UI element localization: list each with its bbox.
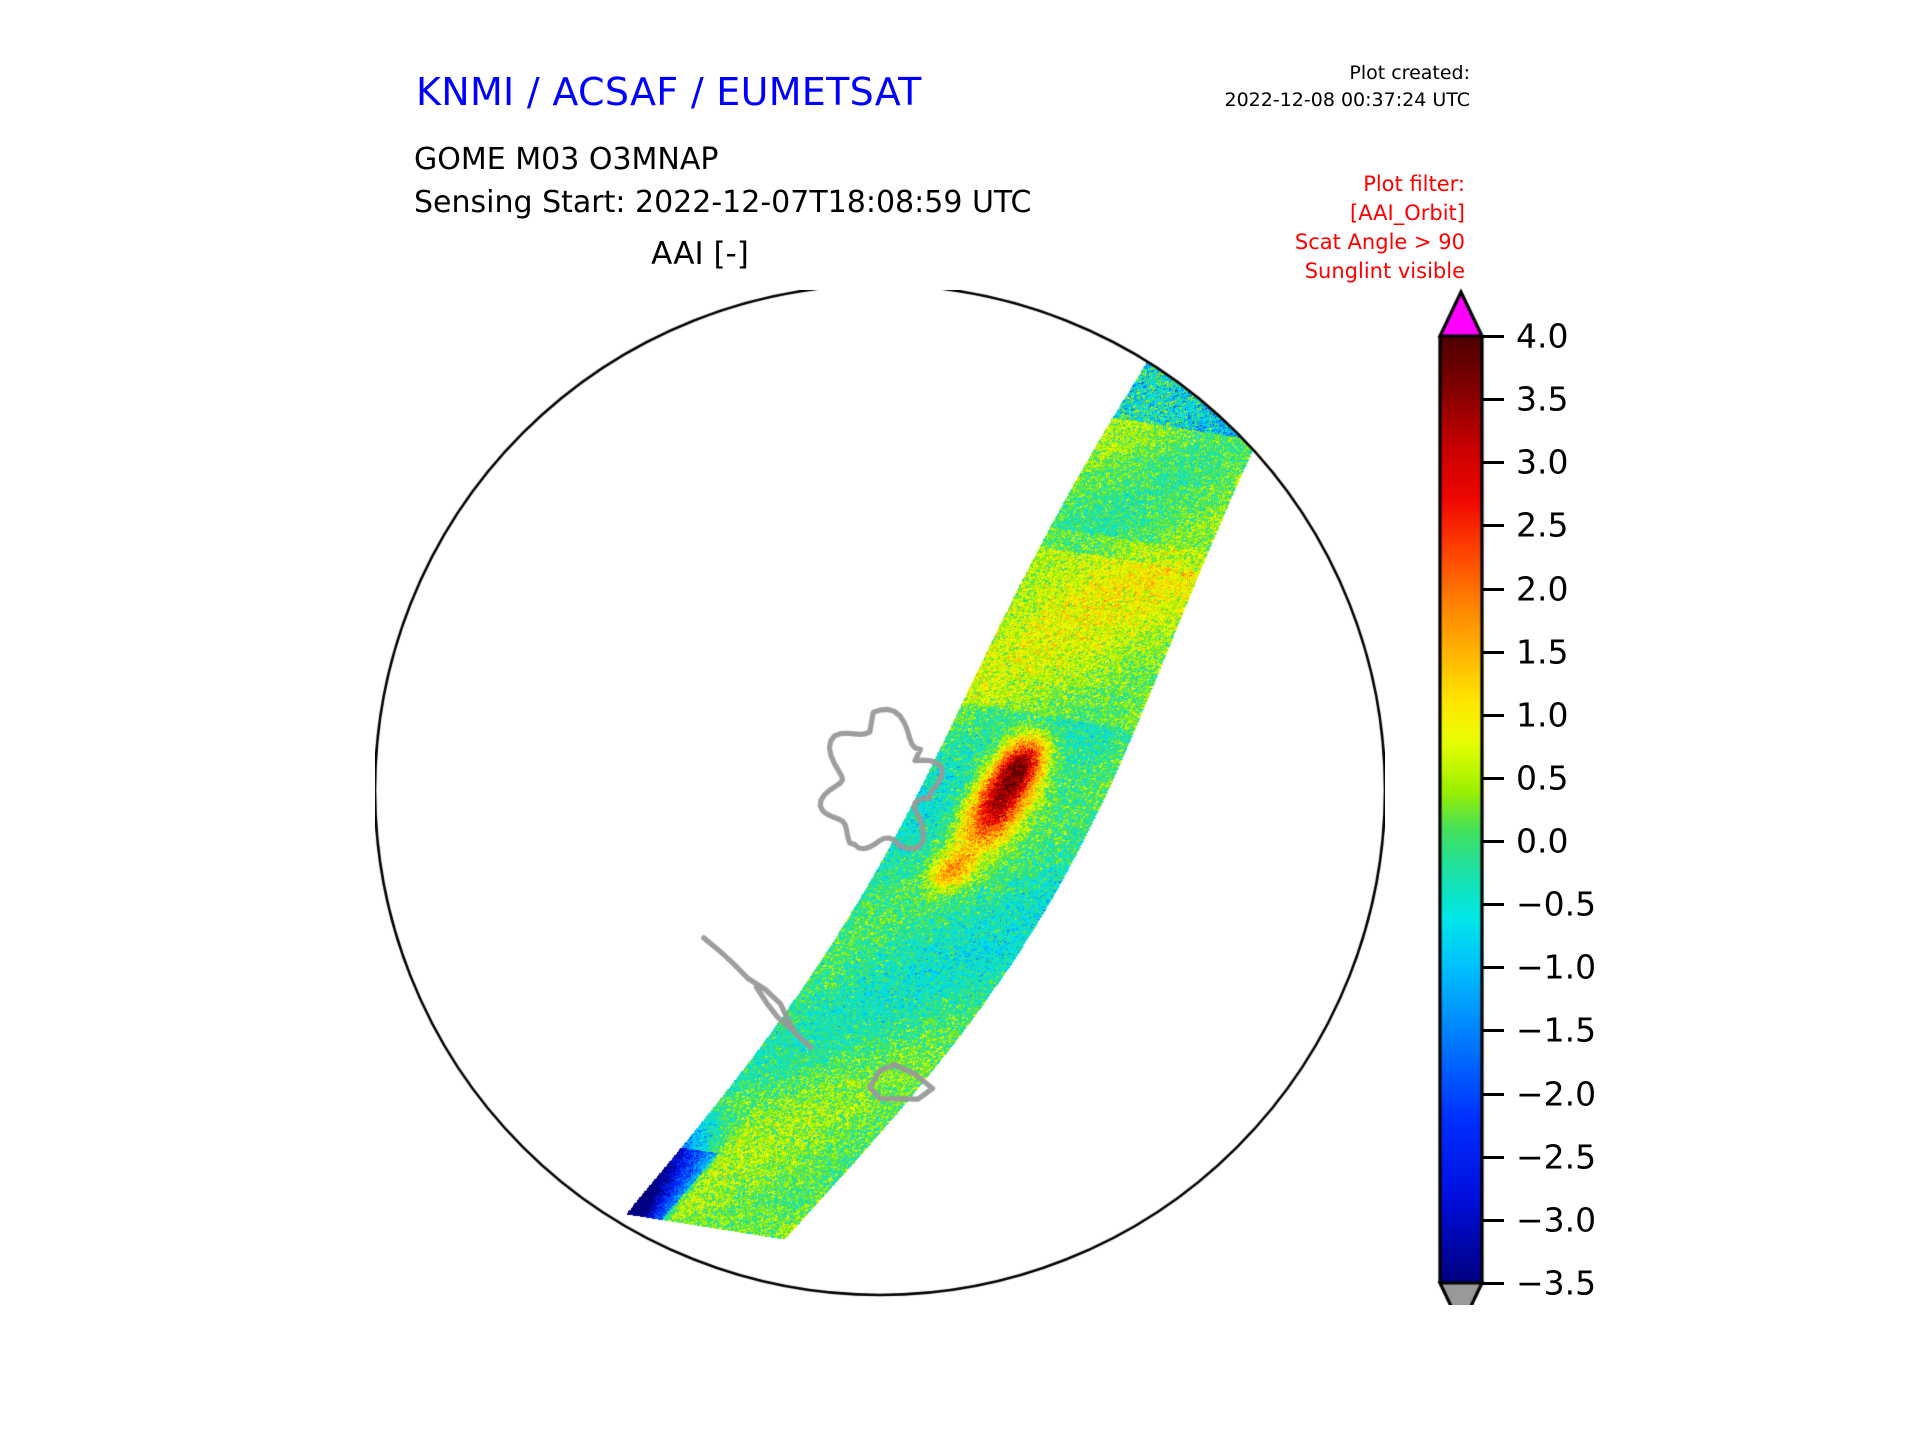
- map-globe: [375, 290, 1385, 1300]
- colorbar-tick-label: −1.0: [1516, 951, 1596, 984]
- colorbar-tick-mark: [1482, 1282, 1504, 1285]
- plot-created-timestamp: 2022-12-08 00:37:24 UTC: [1225, 87, 1471, 114]
- plot-filter-title: Plot filter:: [1295, 170, 1465, 199]
- sensing-start-line: Sensing Start: 2022-12-07T18:08:59 UTC: [414, 181, 1031, 224]
- colorbar-tick-mark: [1482, 777, 1504, 780]
- colorbar-tick-mark: [1482, 588, 1504, 591]
- dataset-info: GOME M03 O3MNAP Sensing Start: 2022-12-0…: [414, 138, 1031, 224]
- colorbar-tick-label: −3.5: [1516, 1267, 1596, 1300]
- colorbar-gradient: [1430, 285, 1900, 1305]
- colorbar-tick-label: 0.0: [1516, 825, 1568, 858]
- plot-filter-block: Plot filter: [AAI_Orbit] Scat Angle > 90…: [1295, 170, 1465, 286]
- colorbar-tick-mark: [1482, 1156, 1504, 1159]
- colorbar-tick-mark: [1482, 714, 1504, 717]
- orthographic-map-canvas: [375, 290, 1385, 1300]
- colorbar-tick-label: 1.5: [1516, 635, 1568, 668]
- organisation-title: KNMI / ACSAF / EUMETSAT: [416, 70, 922, 114]
- colorbar-tick-mark: [1482, 398, 1504, 401]
- colorbar-tick-mark: [1482, 1093, 1504, 1096]
- plot-filter-line-1: Scat Angle > 90: [1295, 228, 1465, 257]
- colorbar-tick-mark: [1482, 1029, 1504, 1032]
- colorbar-tick-label: 0.5: [1516, 761, 1568, 794]
- colorbar-tick-label: −2.0: [1516, 1077, 1596, 1110]
- colorbar-tick-label: −1.5: [1516, 1014, 1596, 1047]
- colorbar-tick-label: 2.0: [1516, 572, 1568, 605]
- colorbar-tick-label: −3.0: [1516, 1203, 1596, 1236]
- colorbar-tick-mark: [1482, 966, 1504, 969]
- colorbar-tick-label: 3.5: [1516, 383, 1568, 416]
- colorbar-tick-mark: [1482, 840, 1504, 843]
- colorbar-tick-label: 2.5: [1516, 509, 1568, 542]
- plot-created-label: Plot created:: [1225, 60, 1471, 87]
- colorbar-tick-label: 4.0: [1516, 320, 1568, 353]
- colorbar-tick-mark: [1482, 903, 1504, 906]
- colorbar-tick-label: −2.5: [1516, 1140, 1596, 1173]
- quantity-title: AAI [-]: [0, 236, 1400, 272]
- plot-created-block: Plot created: 2022-12-08 00:37:24 UTC: [1225, 60, 1471, 114]
- colorbar: 4.03.53.02.52.01.51.00.50.0−0.5−1.0−1.5−…: [1430, 285, 1900, 1305]
- plot-filter-line-2: Sunglint visible: [1295, 257, 1465, 286]
- colorbar-tick-label: 1.0: [1516, 698, 1568, 731]
- colorbar-tick-mark: [1482, 1219, 1504, 1222]
- colorbar-tick-mark: [1482, 335, 1504, 338]
- colorbar-tick-label: −0.5: [1516, 888, 1596, 921]
- colorbar-tick-label: 3.0: [1516, 446, 1568, 479]
- plot-filter-line-0: [AAI_Orbit]: [1295, 199, 1465, 228]
- colorbar-tick-mark: [1482, 651, 1504, 654]
- colorbar-tick-mark: [1482, 461, 1504, 464]
- instrument-line: GOME M03 O3MNAP: [414, 138, 1031, 181]
- colorbar-tick-mark: [1482, 524, 1504, 527]
